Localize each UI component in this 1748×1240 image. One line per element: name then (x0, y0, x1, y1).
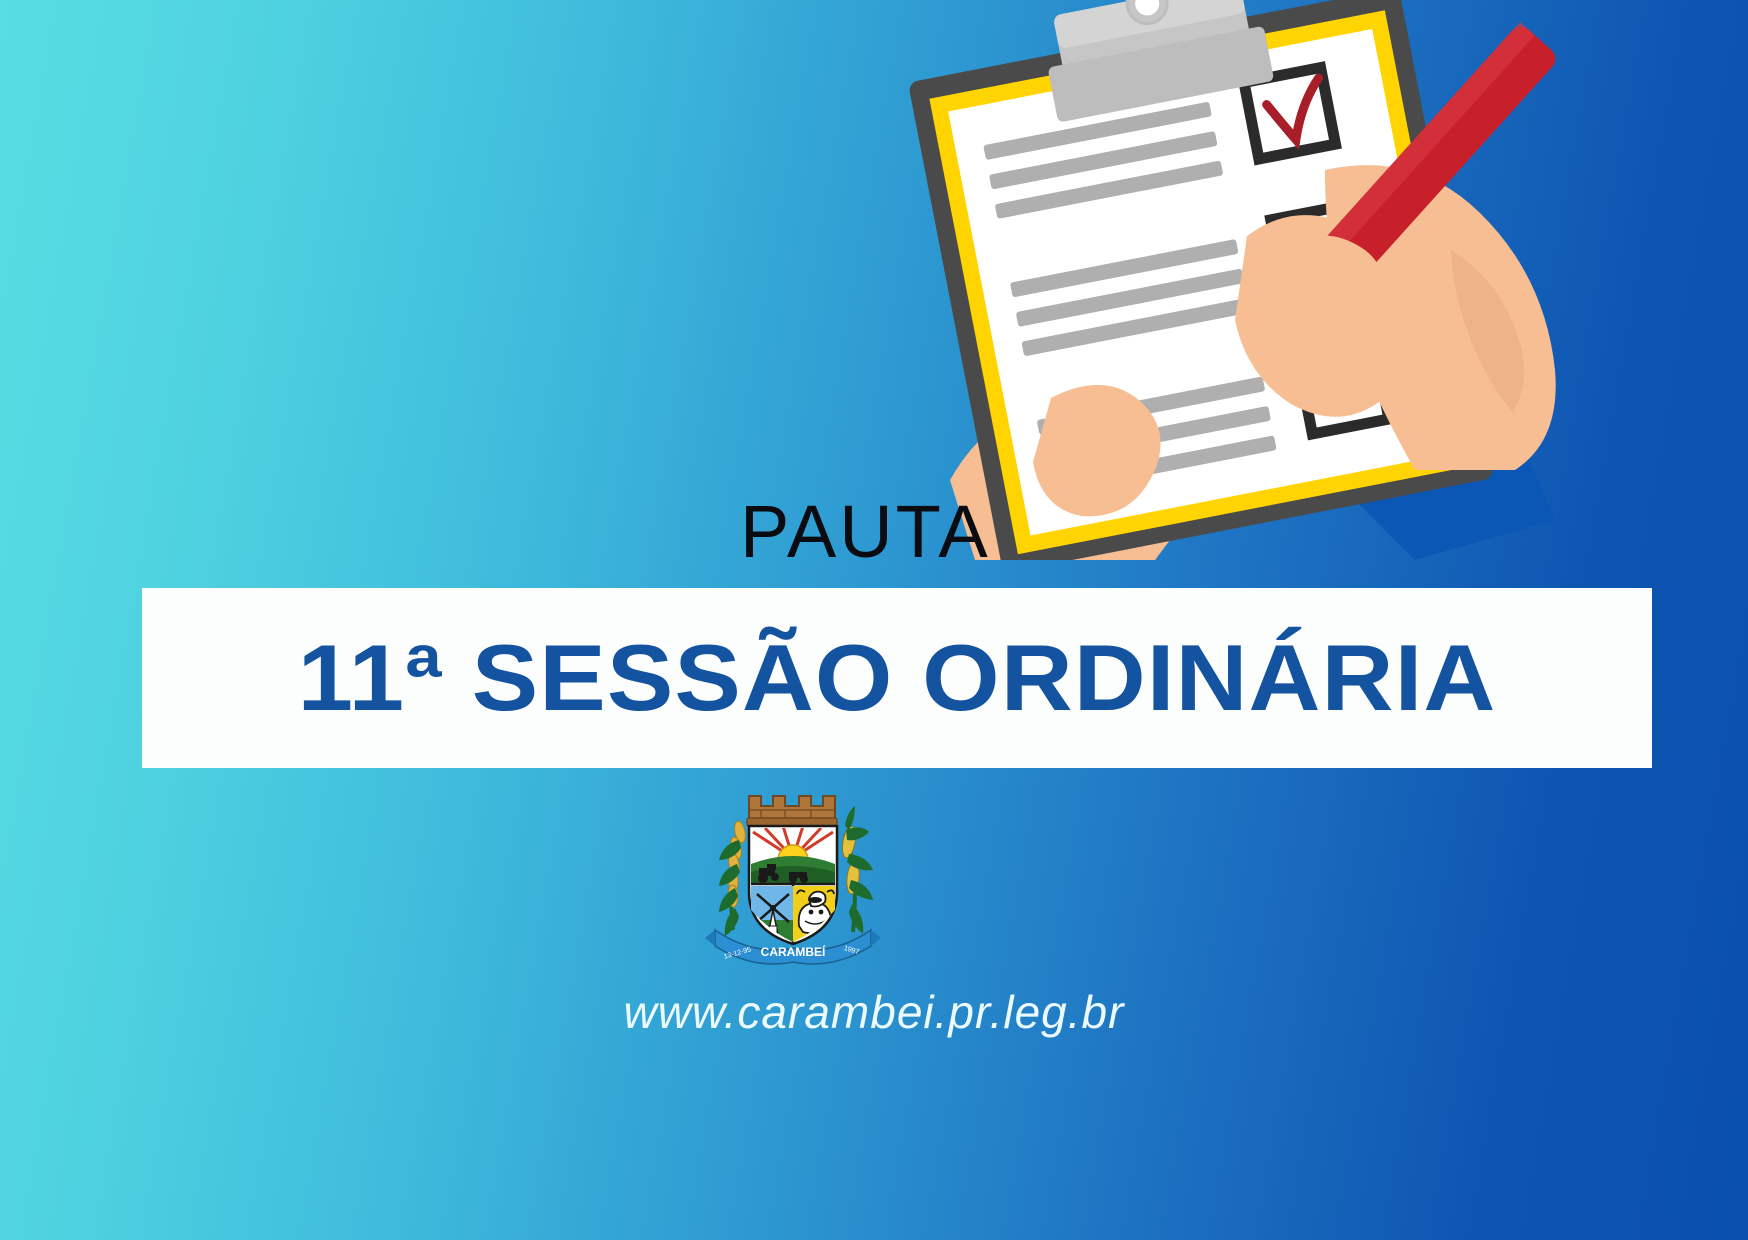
carambei-coat-of-arms: CARAMBEÍ 13-12-95 1997 (693, 780, 893, 970)
windmill-scene (749, 884, 795, 946)
hand-checking-clipboard-illustration (855, 0, 1615, 560)
page-title: 11ª SESSÃO ORDINÁRIA (97, 631, 1698, 725)
shield (749, 826, 837, 946)
wheat-branch-icon (719, 820, 747, 936)
poster-canvas: PAUTA 11ª SESSÃO ORDINÁRIA (0, 0, 1748, 1240)
title-banner: 11ª SESSÃO ORDINÁRIA (142, 588, 1652, 768)
kicker-pauta: PAUTA (740, 495, 991, 569)
sunrise-fields-scene (749, 826, 837, 886)
castle-crown-icon (747, 796, 837, 826)
corn-stalk-icon (840, 806, 873, 934)
website-url: www.carambei.pr.leg.br (0, 985, 1748, 1039)
ribbon-municipality: CARAMBEÍ (761, 944, 826, 959)
